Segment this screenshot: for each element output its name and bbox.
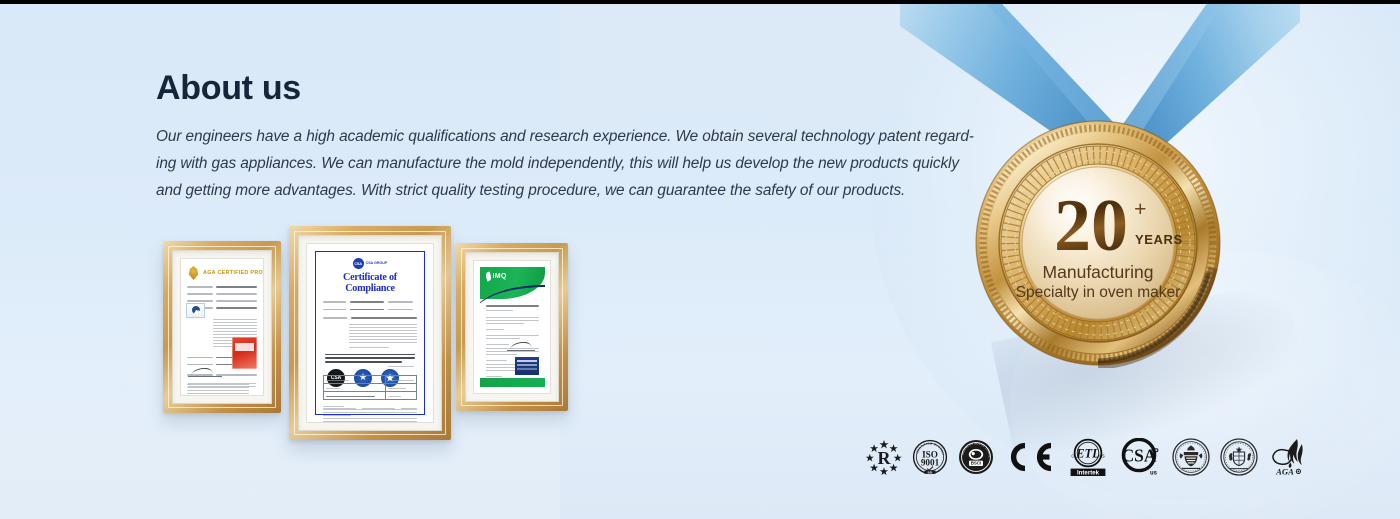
medal-years-number: 20 [1054, 185, 1128, 267]
anniversary-medal: 20 + YEARS Manufacturing Specialty in ov… [963, 118, 1233, 373]
medal-line-manufacturing: Manufacturing [1043, 262, 1154, 282]
medal-plus-sign: + [1134, 196, 1147, 221]
about-us-section: 20 + YEARS Manufacturing Specialty in ov… [0, 0, 1400, 519]
top-black-strip [0, 0, 1400, 4]
medal-line-specialty: Specialty in oven maker [1016, 284, 1181, 301]
medal-years-label: YEARS [1135, 232, 1183, 247]
